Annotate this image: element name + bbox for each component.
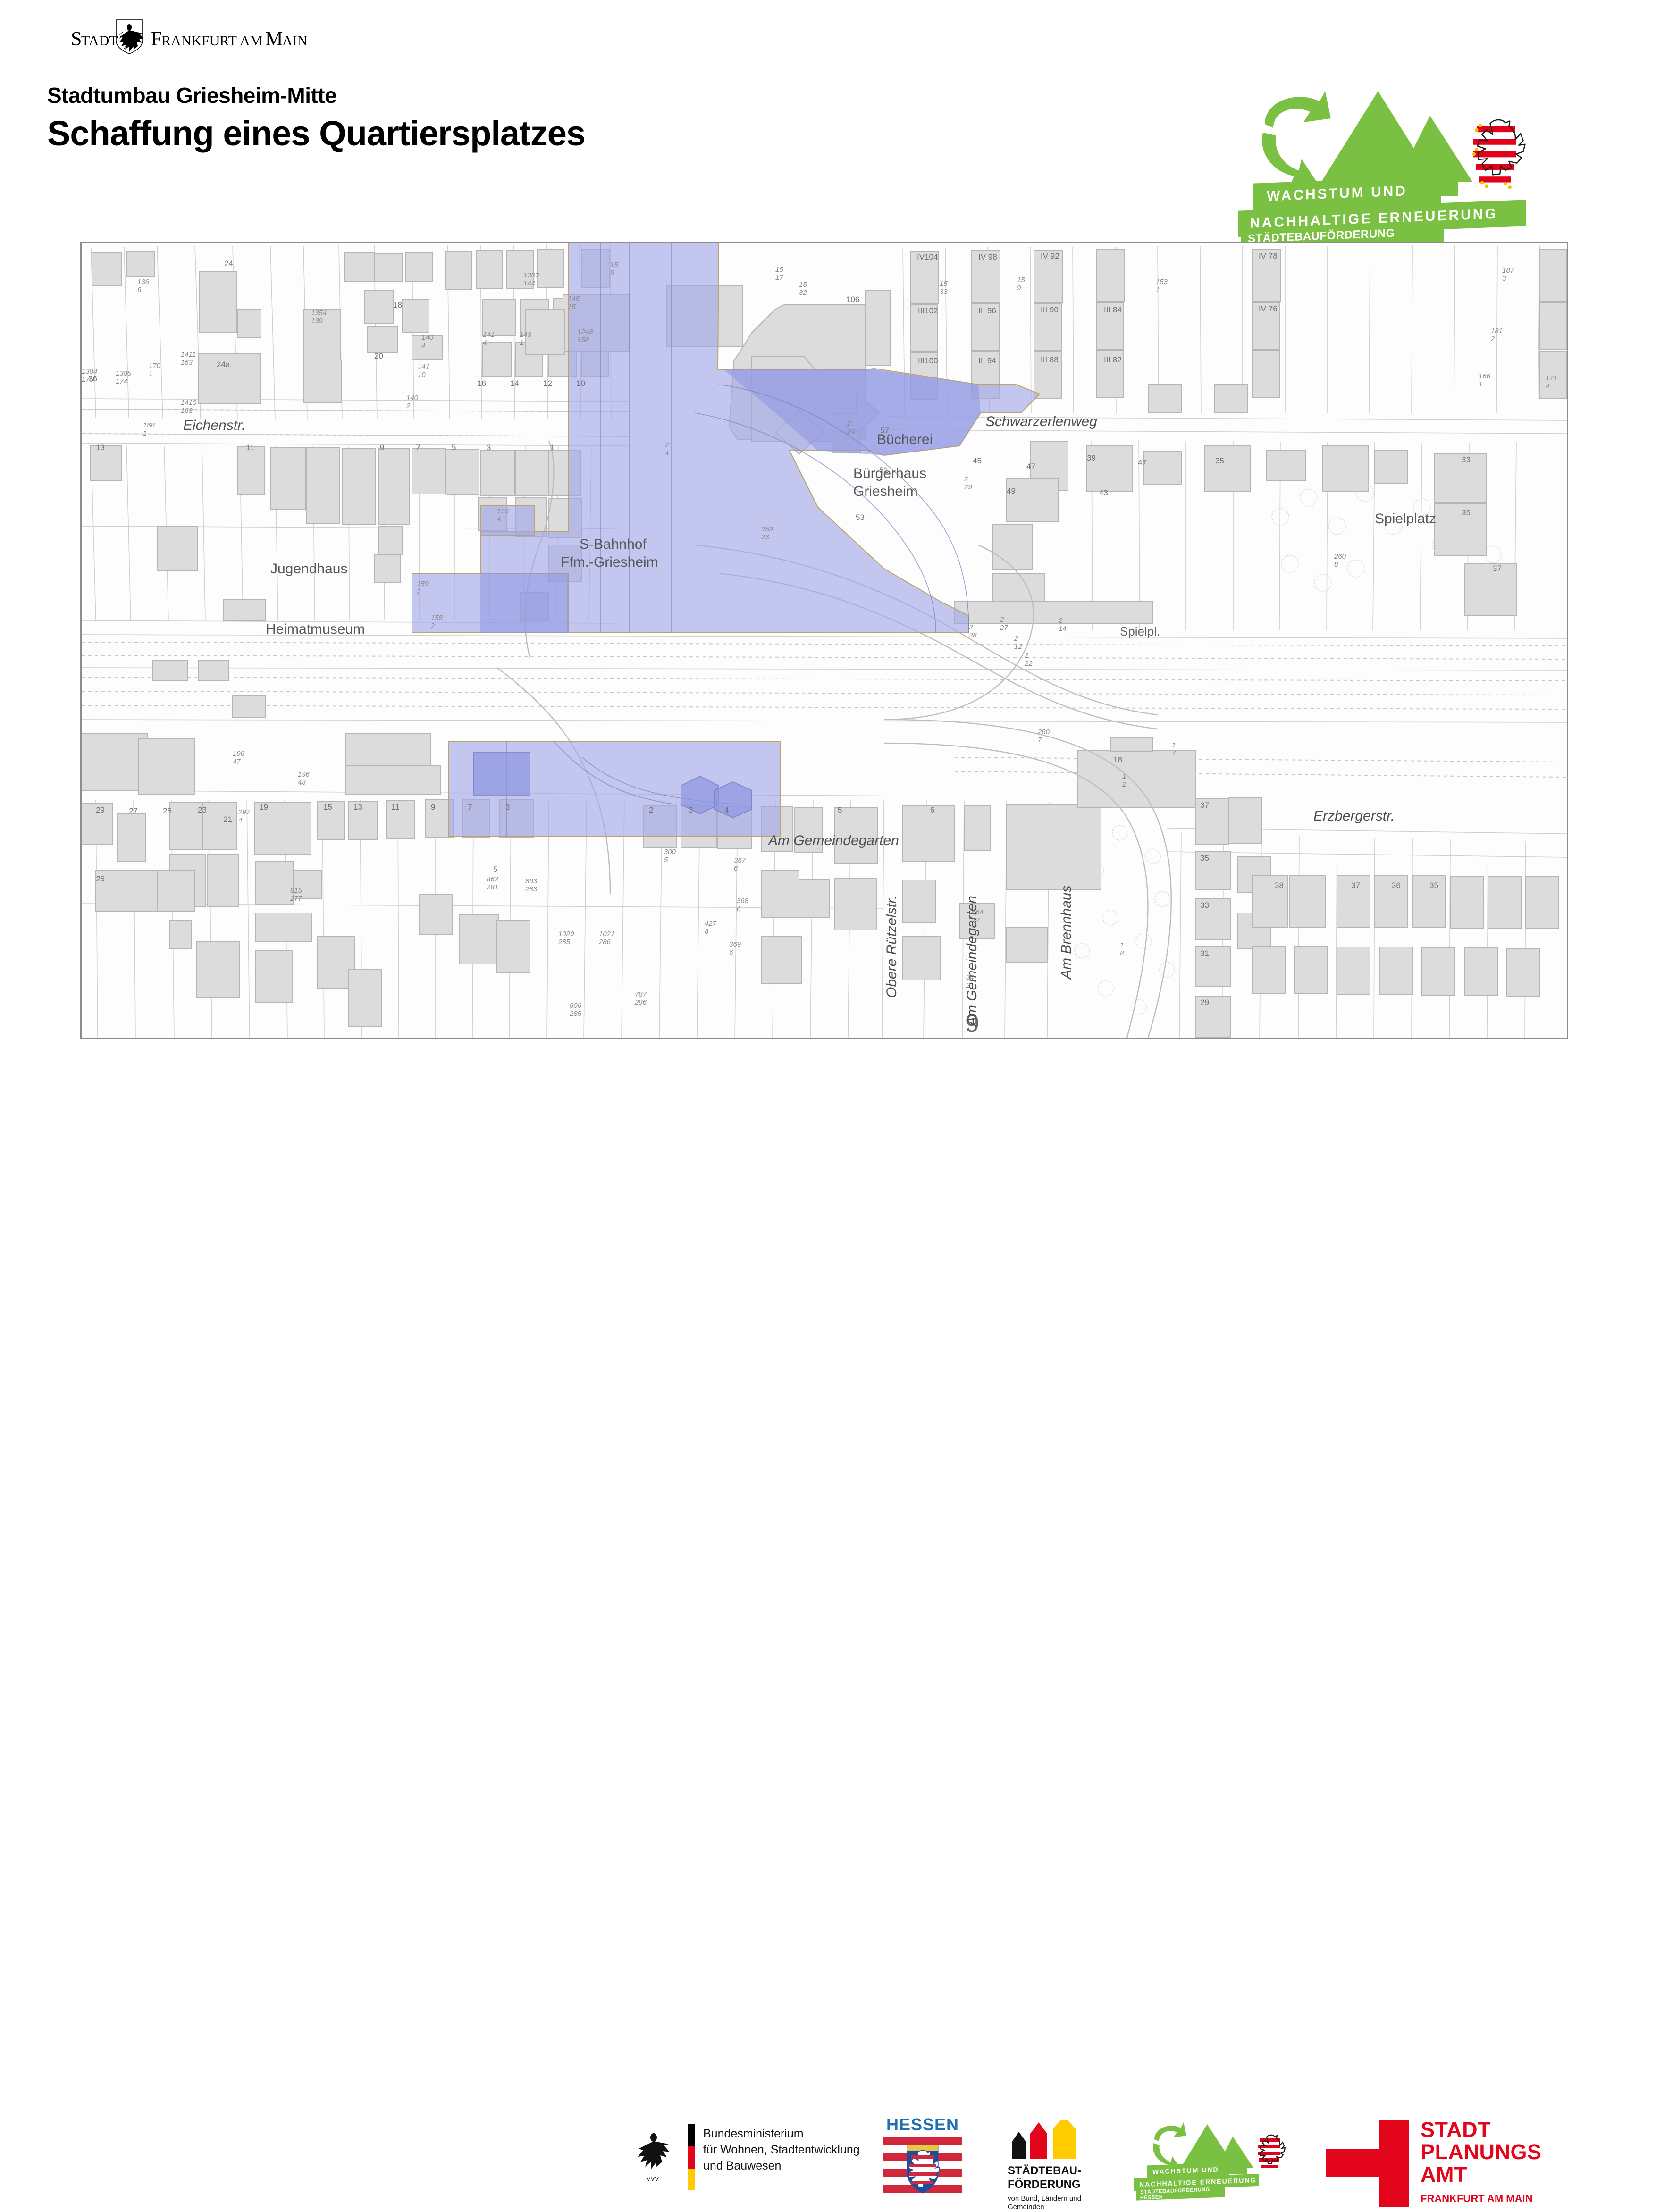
parcel-number: 806285	[570, 1002, 581, 1018]
house-number: 47	[1026, 462, 1035, 471]
hessen-wordmark: HESSEN	[878, 2115, 967, 2135]
house-number: 16	[477, 379, 486, 388]
parcel-number: 1366	[137, 278, 149, 294]
staedtebaufoerderung-logo: STÄDTEBAU- FÖRDERUNG von Bund, Ländern u…	[1008, 2120, 1130, 2204]
bmwsb-line1: Bundesministerium	[703, 2126, 860, 2142]
house-number: IV 92	[1041, 251, 1059, 261]
house-number: III102	[918, 306, 938, 316]
staedtebau-title: STÄDTEBAU- FÖRDERUNG	[1008, 2164, 1130, 2192]
svg-text:AIN: AIN	[282, 33, 307, 49]
house-number: 35	[1215, 456, 1224, 466]
house-number: IV 98	[978, 252, 997, 262]
house-number: 4	[724, 805, 729, 815]
parcel-number: 2607	[1038, 728, 1050, 744]
parcel-number: 17	[1172, 741, 1176, 757]
svg-text:S: S	[71, 28, 82, 50]
parcel-number: 1533	[940, 280, 948, 296]
city-of-frankfurt-logo: S TADT F RANKFURT AM M AIN	[71, 18, 373, 56]
parcel-number: 1248158	[577, 328, 593, 344]
house-number: 35	[1200, 854, 1209, 863]
street-label-am-gemeindegarten: Am Gemeindegarten	[768, 833, 899, 849]
house-number: 6	[930, 805, 934, 815]
parcel-number: 14515	[568, 295, 580, 311]
parcel-number: 1701	[149, 362, 160, 378]
poi-jugendhaus: Jugendhaus	[270, 561, 347, 577]
house-number: IV 78	[1259, 251, 1278, 261]
parcel-number: 212	[1014, 635, 1022, 651]
house-number: 9	[431, 803, 435, 812]
house-number: 10	[576, 379, 585, 388]
house-number: 1	[550, 443, 554, 452]
bmwsb-logo: VVV Bundesministerium für Wohnen, Stadte…	[628, 2124, 873, 2190]
parcel-number: 3686	[737, 897, 748, 913]
parcel-number: 1532	[799, 281, 807, 297]
parcel-number: 214	[1059, 617, 1067, 633]
svg-text:AM: AM	[240, 33, 262, 49]
house-number: 18	[393, 301, 402, 310]
parcel-number: 4278	[705, 920, 716, 936]
parcel-number: 1410163	[181, 399, 196, 415]
street-label-erzbergerstr: Erzbergerstr.	[1313, 808, 1395, 824]
house-number: III 96	[978, 306, 996, 316]
spa-subtitle: FRANKFURT AM MAIN	[1421, 2193, 1532, 2205]
stadtplanungsamt-wordmark: STADT PLANUNGS AMT	[1421, 2119, 1542, 2186]
parcel-number: 14110	[418, 363, 429, 379]
spa-line3: AMT	[1421, 2163, 1542, 2186]
parcel-number: 224	[847, 419, 855, 436]
svg-text:VVV: VVV	[647, 2175, 659, 2182]
parcel-number: 863283	[525, 877, 537, 893]
house-number: 38	[1275, 881, 1284, 890]
house-number: 29	[1200, 998, 1209, 1007]
parcel-number: 228	[969, 623, 977, 639]
parcel-number: 19647	[233, 750, 244, 766]
parcel-number: 159	[610, 261, 618, 277]
stadtplanungsamt-logo: STADT PLANUNGS AMT FRANKFURT AM MAIN	[1326, 2120, 1572, 2207]
staedtebau-line2: FÖRDERUNG	[1008, 2178, 1130, 2192]
house-number: 5	[493, 865, 497, 874]
house-number: 25	[163, 806, 172, 816]
house-number: 11	[246, 443, 254, 452]
house-number: 51	[879, 466, 888, 475]
svg-text:F: F	[151, 28, 162, 50]
parcel-number: 1517	[775, 266, 783, 282]
house-number: 24a	[217, 360, 230, 369]
parcel-number: 1812	[1491, 327, 1503, 343]
house-number: 53	[856, 513, 865, 522]
parcel-number: 66437	[972, 908, 984, 924]
house-number: 18	[1113, 755, 1122, 765]
svg-text:M: M	[265, 28, 283, 50]
house-number: III 90	[1041, 305, 1059, 315]
house-number: 36	[1392, 881, 1401, 890]
parcel-number: 227	[1000, 616, 1008, 632]
house-number: IV104	[917, 252, 938, 262]
house-number: 27	[129, 806, 138, 816]
house-number: 43	[1099, 488, 1108, 498]
house-number: 11	[391, 803, 400, 812]
house-number: 24	[224, 259, 233, 268]
parcel-number: 787286	[635, 990, 647, 1006]
parcel-number: 3696	[729, 940, 741, 956]
house-number: 14	[510, 379, 519, 388]
staedtebau-sub1: von Bund, Ländern und	[1008, 2195, 1130, 2204]
house-number: 20	[374, 352, 383, 361]
house-number: IV 76	[1259, 304, 1278, 314]
house-number: 5	[452, 443, 456, 452]
house-number: III 84	[1104, 305, 1122, 315]
house-number: 39	[1087, 453, 1096, 463]
parcel-number: 222	[1025, 652, 1033, 668]
parcel-number: 18	[1120, 941, 1124, 957]
house-number: 33	[1462, 455, 1471, 465]
parcel-number: 1584	[497, 507, 509, 523]
house-number: 23	[198, 805, 207, 815]
hessen-state-logo: HESSEN	[878, 2115, 967, 2202]
parcel-number: 3676	[734, 856, 746, 872]
poi-s-bahnhof: S-Bahnhof	[580, 536, 647, 553]
parcel-number: 229	[964, 475, 972, 491]
house-number: 21	[223, 815, 232, 824]
house-number: 29	[96, 805, 105, 815]
svg-text:TADT: TADT	[81, 33, 118, 49]
german-flag-bar	[688, 2124, 695, 2190]
house-number: 49	[1007, 486, 1016, 496]
spa-line2: PLANUNGS	[1421, 2141, 1542, 2163]
house-number: 13	[96, 443, 105, 452]
parcel-number: 1354139	[311, 309, 327, 325]
parcel-number: 1531	[1156, 278, 1168, 294]
house-number: III100	[918, 356, 938, 366]
parcel-number: 1873	[1502, 267, 1514, 283]
poi-s-bahnhof-2: Ffm.-Griesheim	[561, 554, 658, 570]
house-number: 37	[1493, 564, 1502, 573]
spa-line1: STADT	[1421, 2119, 1542, 2141]
project-subtitle: Stadtumbau Griesheim-Mitte	[47, 83, 336, 108]
parcel-number: 1385174	[116, 369, 131, 385]
house-number: 19	[259, 803, 268, 812]
house-number: 7	[416, 443, 420, 452]
poi-buergerhaus: Bürgerhaus	[853, 466, 926, 482]
house-number: 47	[1138, 458, 1147, 468]
parcel-number: 862281	[487, 875, 498, 891]
poi-spielplatz: Spielplatz	[1375, 511, 1436, 527]
house-number: 26	[88, 374, 97, 384]
street-label-eichenstr: Eichenstr.	[183, 418, 245, 434]
poi-heimatmuseum: Heimatmuseum	[266, 621, 365, 637]
house-number: 37	[1200, 801, 1209, 810]
parcel-number: 1714	[1546, 374, 1557, 390]
bmwsb-line2: für Wohnen, Stadtentwicklung	[703, 2142, 860, 2158]
parcel-number: 2974	[238, 808, 250, 824]
house-number: 35	[1429, 881, 1438, 890]
parcel-number: 815277	[290, 887, 302, 903]
house-number: 9	[380, 443, 384, 452]
parcel-number: 1404	[421, 334, 433, 350]
parcel-number: 1414	[483, 331, 495, 347]
parcel-number: 25923	[761, 525, 773, 541]
house-number: 7	[468, 803, 472, 812]
house-number: III 94	[978, 356, 996, 366]
house-number: 13	[353, 803, 362, 812]
house-number: 3	[689, 805, 693, 815]
house-number: 3	[505, 803, 510, 812]
street-label-am-brennhaus: Am Brennhaus	[1059, 886, 1075, 979]
house-number: 37	[1351, 881, 1360, 890]
house-number: III 88	[1041, 355, 1059, 365]
poi-spielpl: Spielpl.	[1120, 624, 1160, 639]
house-number: III 82	[1104, 355, 1122, 365]
parcel-number: 159	[1017, 276, 1025, 292]
poi-buergerhaus-2: Griesheim	[853, 484, 918, 500]
staedtebau-sub: von Bund, Ländern und Gemeinden	[1008, 2195, 1130, 2212]
house-number: 15	[323, 803, 332, 812]
parcel-number: 3005	[664, 848, 676, 864]
parcel-number: 12	[1122, 772, 1126, 788]
house-number: 57	[880, 426, 889, 436]
street-label-schwarzerlenweg: Schwarzerlenweg	[985, 414, 1097, 430]
staedtebau-line1: STÄDTEBAU-	[1008, 2164, 1130, 2178]
parcel-number: 1402	[406, 394, 418, 410]
bmwsb-text: Bundesministerium für Wohnen, Stadtentwi…	[703, 2126, 860, 2174]
parcel-number: 1661	[1479, 372, 1490, 388]
bmwsb-line3: und Bauwesen	[703, 2158, 860, 2174]
parcel-number: 1431	[520, 331, 531, 347]
parcel-number: 24	[665, 441, 669, 457]
parcel-number: 1681	[143, 421, 155, 437]
cadastral-map[interactable]: 9 Eichenstr. Schwarzerlenweg Erzbergerst…	[80, 242, 1568, 1039]
parcel-number: 1592	[417, 580, 429, 596]
house-number: 3	[487, 443, 491, 452]
house-number: 45	[973, 456, 982, 466]
street-label-obere-ruetzelstr: Obere Rützelstr.	[884, 896, 900, 998]
house-number: 2	[649, 805, 653, 815]
house-number: 106	[846, 295, 859, 304]
house-number: 12	[543, 379, 552, 388]
parcel-number: 1021286	[599, 930, 614, 946]
page-title: Schaffung eines Quartiersplatzes	[47, 113, 585, 153]
house-number: 25	[96, 874, 105, 884]
house-number: 31	[1200, 949, 1209, 958]
parcel-number: 1411163	[181, 351, 196, 367]
parcel-number: 2608	[1334, 553, 1346, 569]
house-number: 33	[1200, 901, 1209, 910]
parcel-number: 1020285	[558, 930, 574, 946]
house-number: 5	[838, 805, 842, 815]
parcel-number: 342	[966, 973, 974, 989]
svg-text:RANKFURT: RANKFURT	[161, 33, 237, 49]
parcel-number: 19648	[298, 771, 310, 787]
parcel-number: 1582	[431, 614, 443, 630]
parcel-number: 1303144	[523, 271, 539, 287]
house-number: 35	[1462, 508, 1471, 518]
wachstum-nachhaltige-erneuerung-logo-small: WACHSTUM UND NACHHALTIGE ERNEUERUNG STÄD…	[1147, 2122, 1303, 2205]
staedtebau-sub2: Gemeinden	[1008, 2203, 1130, 2212]
